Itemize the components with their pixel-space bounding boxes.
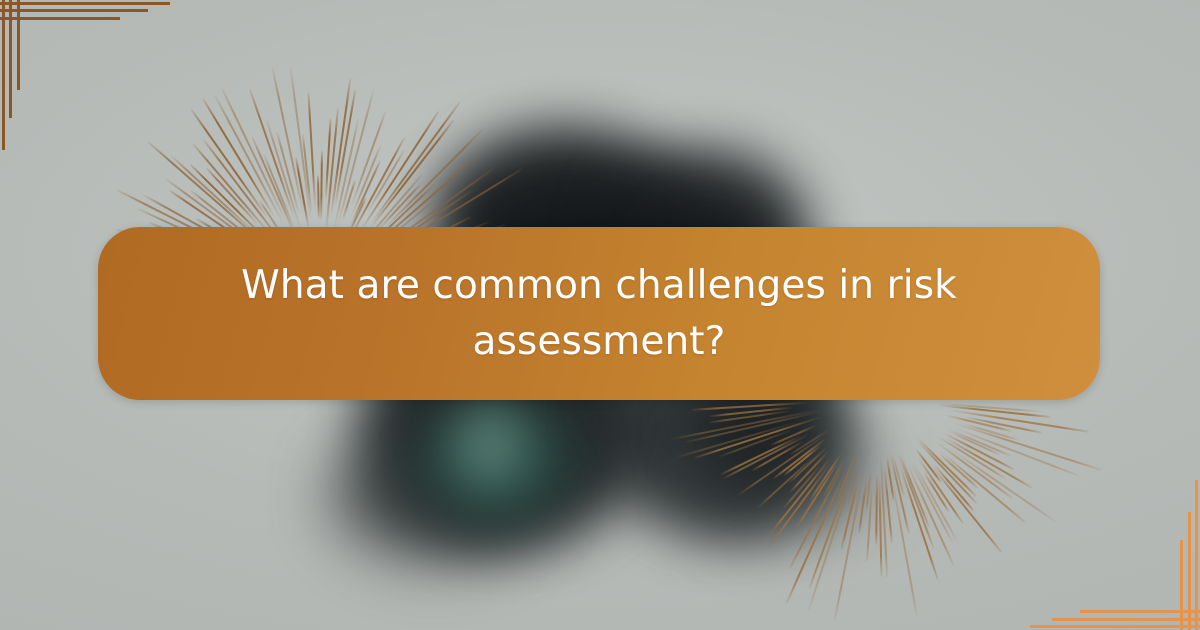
question-banner: What are common challenges in risk asses… [98,227,1100,400]
corner-line-vertical [1195,480,1198,630]
corner-frame-top-left [0,0,200,180]
question-text: What are common challenges in risk asses… [98,258,1100,370]
corner-line-vertical [1180,540,1183,630]
corner-line-horizontal [1052,618,1200,621]
corner-line-vertical [9,0,12,118]
poster-canvas: What are common challenges in risk asses… [0,0,1200,630]
corner-line-vertical [1188,512,1191,630]
question-line-1: What are common challenges in risk [241,263,957,308]
question-line-2: assessment? [473,319,726,364]
corner-line-horizontal [0,9,148,12]
corner-line-horizontal [1030,625,1200,628]
corner-frame-bottom-right [1000,450,1200,630]
corner-line-horizontal [0,2,170,5]
corner-line-vertical [17,0,20,90]
corner-line-vertical [2,0,5,150]
photo-blob-lens-highlight [455,405,525,485]
